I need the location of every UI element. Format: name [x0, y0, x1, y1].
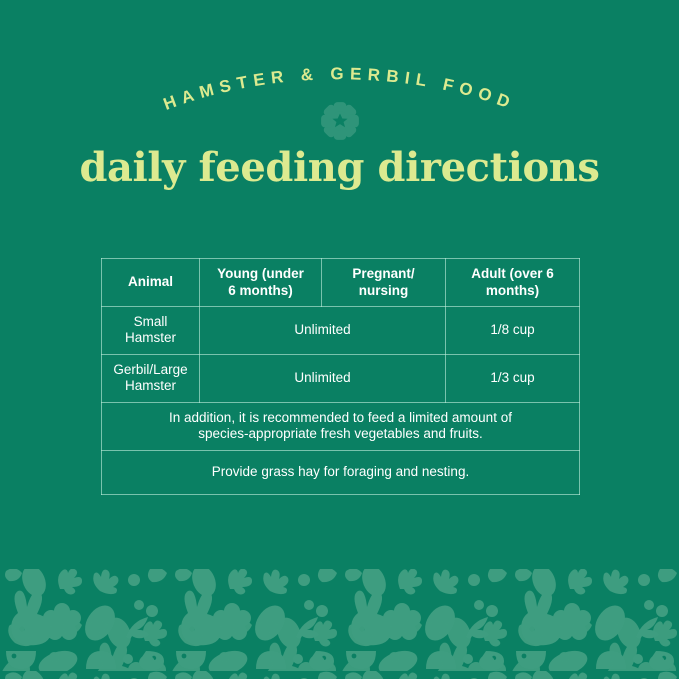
header-adult-line1: Adult (over 6	[471, 266, 554, 281]
pattern-svg	[0, 567, 679, 679]
animal-name-line1: Gerbil/Large	[113, 362, 187, 377]
header-pregnant-line2: nursing	[359, 283, 409, 298]
header-cell-animal: Animal	[102, 259, 200, 307]
header-cell-adult: Adult (over 6 months)	[446, 259, 580, 307]
poster-canvas: HAMSTER & GERBIL FOOD daily feeding dire…	[0, 0, 679, 679]
animal-name-line2: Hamster	[125, 378, 176, 393]
feeding-table-container: Animal Young (under 6 months) Pregnant/ …	[101, 258, 579, 495]
table-row: Gerbil/Large Hamster Unlimited 1/3 cup	[102, 354, 580, 402]
cell-adult-gerbil-large-hamster: 1/3 cup	[446, 354, 580, 402]
animal-name-line1: Small	[134, 314, 168, 329]
animal-name-line2: Hamster	[125, 330, 176, 345]
table-note-row: In addition, it is recommended to feed a…	[102, 402, 580, 450]
cell-animal-small-hamster: Small Hamster	[102, 307, 200, 355]
note-grass-hay: Provide grass hay for foraging and nesti…	[102, 450, 580, 494]
flower-rosette-icon	[319, 100, 361, 142]
table-row: Small Hamster Unlimited 1/8 cup	[102, 307, 580, 355]
header-cell-young: Young (under 6 months)	[200, 259, 322, 307]
cell-young-pregnant-gerbil-large-hamster: Unlimited	[200, 354, 446, 402]
header-young-line1: Young (under	[217, 266, 304, 281]
feeding-directions-table: Animal Young (under 6 months) Pregnant/ …	[101, 258, 580, 495]
note-line2: species-appropriate fresh vegetables and…	[198, 426, 482, 441]
header-adult-line2: months)	[486, 283, 539, 298]
header-cell-pregnant: Pregnant/ nursing	[322, 259, 446, 307]
table-note-row: Provide grass hay for foraging and nesti…	[102, 450, 580, 494]
botanical-rabbit-pattern	[0, 567, 679, 679]
header-young-line2: 6 months)	[228, 283, 293, 298]
page-title: daily feeding directions	[0, 146, 679, 191]
note-line1: In addition, it is recommended to feed a…	[169, 410, 512, 425]
cell-adult-small-hamster: 1/8 cup	[446, 307, 580, 355]
cell-young-pregnant-small-hamster: Unlimited	[200, 307, 446, 355]
table-header-row: Animal Young (under 6 months) Pregnant/ …	[102, 259, 580, 307]
header-pregnant-line1: Pregnant/	[352, 266, 414, 281]
cell-animal-gerbil-large-hamster: Gerbil/Large Hamster	[102, 354, 200, 402]
header-animal-line1: Animal	[128, 274, 173, 289]
note-vegetables-fruits: In addition, it is recommended to feed a…	[102, 402, 580, 450]
